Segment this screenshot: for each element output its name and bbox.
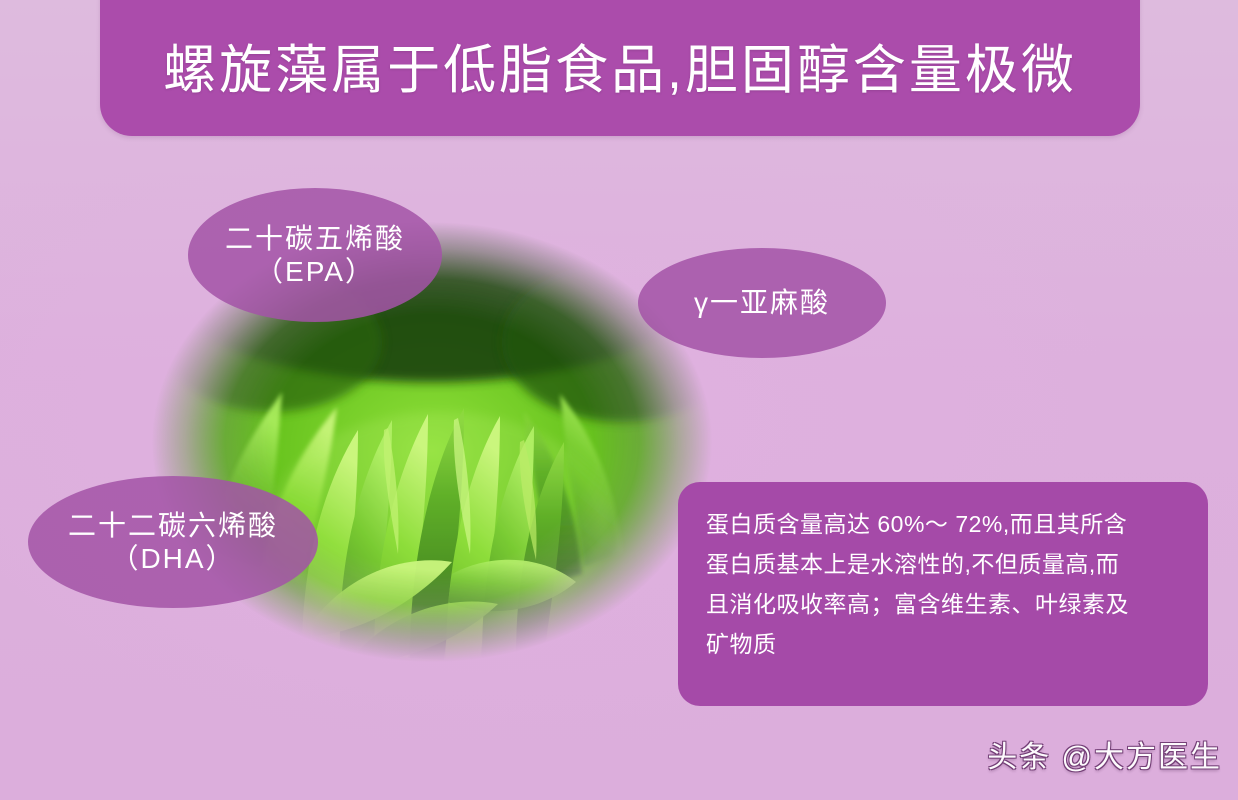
label-dha-line1: 二十二碳六烯酸 (68, 509, 278, 542)
label-dha-line2: （DHA） (110, 542, 235, 575)
label-bubble-epa[interactable]: 二十碳五烯酸 （EPA） (188, 188, 442, 322)
watermark-label: 头条 @大方医生 (987, 732, 1222, 776)
label-gla-line1: γ一亚麻酸 (694, 286, 830, 319)
info-panel: 蛋白质含量高达 60%～ 72%,而且其所含 蛋白质基本上是水溶性的,不但质量高… (678, 482, 1208, 706)
info-line-3: 且消化吸收率高；富含维生素、叶绿素及 (706, 584, 1182, 624)
label-epa-line1: 二十碳五烯酸 (225, 222, 405, 255)
label-epa-line2: （EPA） (255, 255, 375, 288)
label-bubble-dha[interactable]: 二十二碳六烯酸 （DHA） (28, 476, 318, 608)
info-line-2: 蛋白质基本上是水溶性的,不但质量高,而 (706, 544, 1182, 584)
info-line-4: 矿物质 (706, 624, 1182, 664)
label-bubble-gla[interactable]: γ一亚麻酸 (638, 248, 886, 358)
title-banner: 螺旋藻属于低脂食品,胆固醇含量极微 (100, 0, 1140, 136)
page-title: 螺旋藻属于低脂食品,胆固醇含量极微 (163, 32, 1077, 97)
infographic-poster: 螺旋藻属于低脂食品,胆固醇含量极微 (0, 0, 1238, 800)
info-line-1: 蛋白质含量高达 60%～ 72%,而且其所含 (706, 504, 1182, 544)
